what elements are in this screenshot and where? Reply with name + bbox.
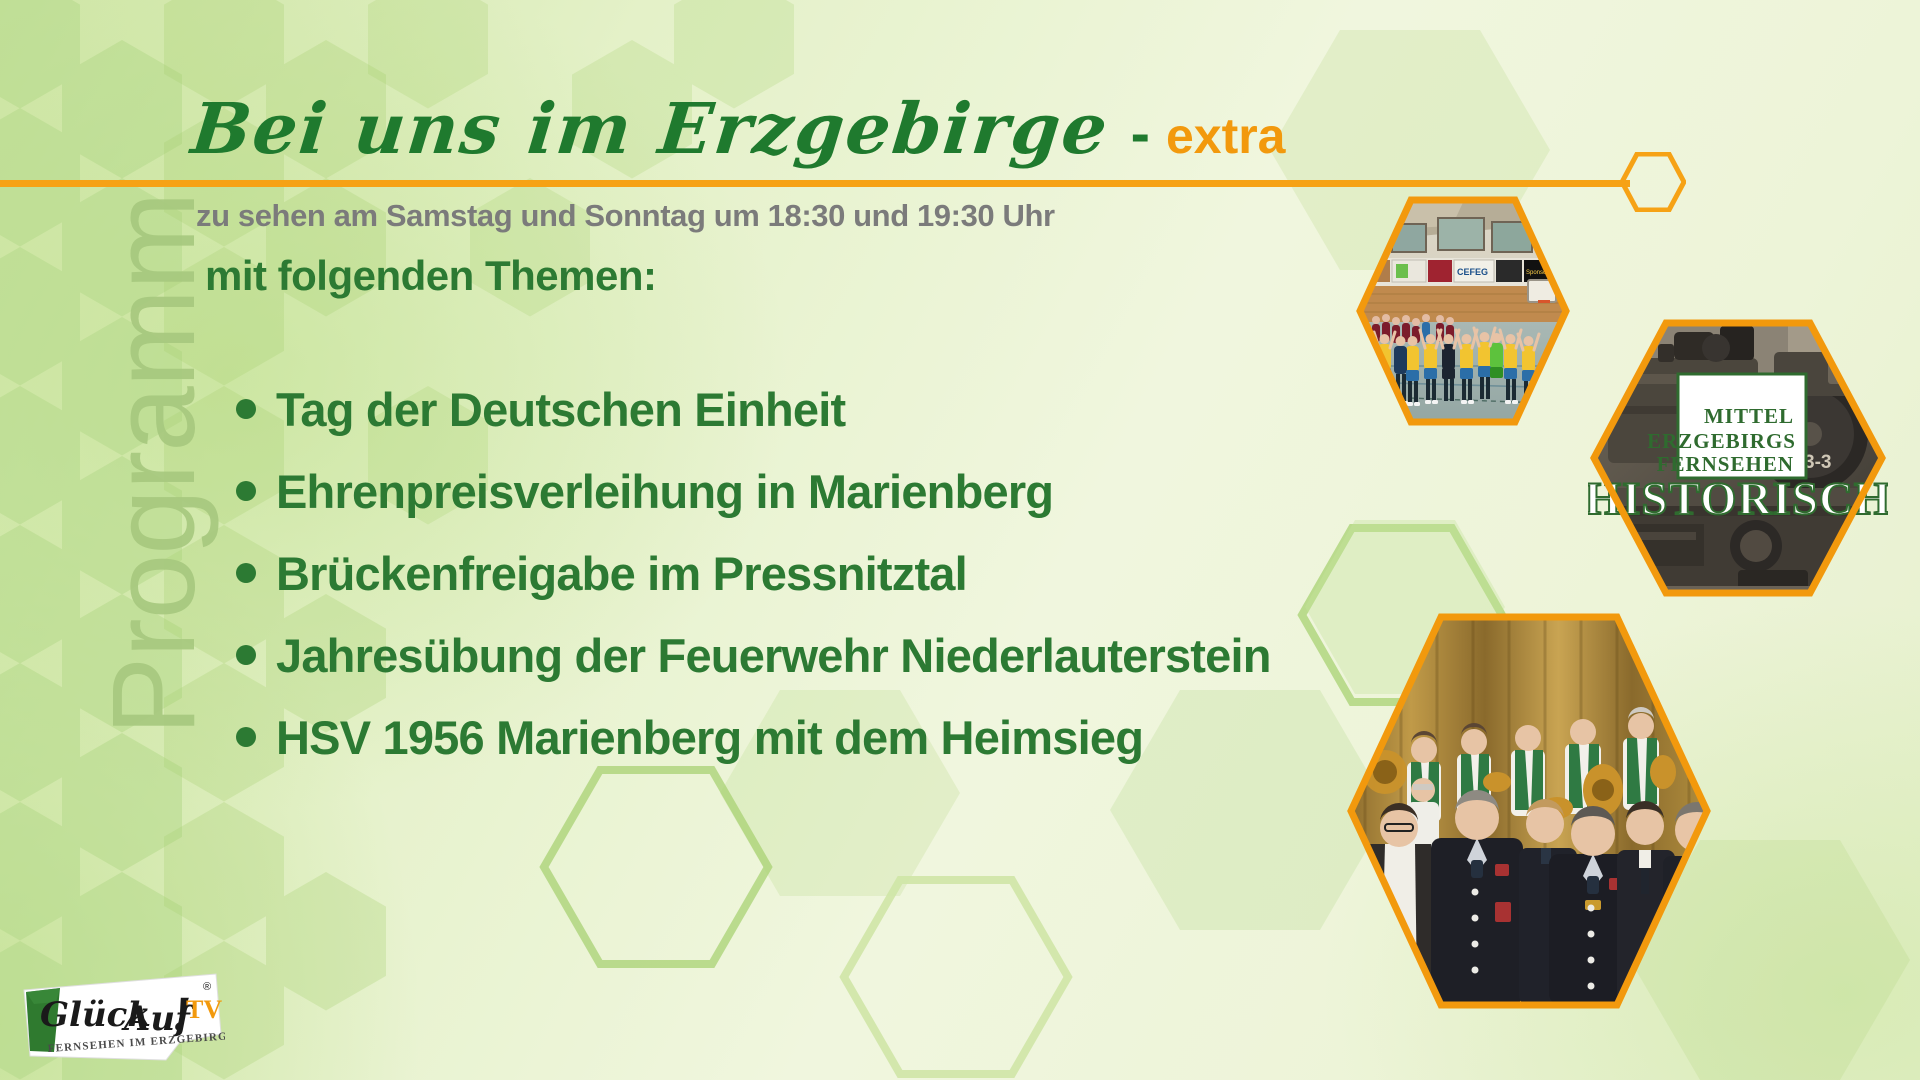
svg-text:CEFEG: CEFEG xyxy=(1457,267,1488,277)
topic-label: HSV 1956 Marienberg mit dem Heimsieg xyxy=(276,714,1143,761)
volleyball-team-photo: CEFEG Sponsor xyxy=(1356,196,1570,426)
orange-divider-rule xyxy=(0,180,1630,187)
bullet-dot-icon xyxy=(236,645,256,665)
loco-number: 3-3 xyxy=(1804,452,1831,473)
list-item: HSV 1956 Marienberg mit dem Heimsieg xyxy=(236,696,1271,778)
logo-registered-mark: ® xyxy=(203,981,211,993)
bullet-dot-icon xyxy=(236,727,256,747)
feuerwehr-ehrung-photo xyxy=(1345,612,1713,1010)
programm-vertical-label: Programm xyxy=(94,54,214,874)
list-item: Tag der Deutschen Einheit xyxy=(236,368,1271,450)
list-item: Ehrenpreisverleihung in Marienberg xyxy=(236,450,1271,532)
svg-text:MITTEL: MITTEL xyxy=(1704,404,1794,428)
list-item: Brückenfreigabe im Pressnitztal xyxy=(236,532,1271,614)
topic-label: Brückenfreigabe im Pressnitztal xyxy=(276,550,967,597)
list-item: Jahresübung der Feuerwehr Niederlauterst… xyxy=(236,614,1271,696)
headline-dash: - xyxy=(1131,105,1150,163)
glueckauf-tv-logo[interactable]: Glück Auf ! ® TV FERNSEHEN IM ERZGEBIRGE xyxy=(20,968,225,1064)
svg-text:ERZGEBIRGS: ERZGEBIRGS xyxy=(1647,429,1796,453)
topics-list: Tag der Deutschen Einheit Ehrenpreisverl… xyxy=(236,368,1271,778)
logo-tv-text: TV xyxy=(186,995,222,1024)
bullet-dot-icon xyxy=(236,563,256,583)
historisch-steam-train-photo: 3-3 MITTEL ERZGEBIR xyxy=(1588,318,1888,598)
orange-hexagon-outline-icon xyxy=(1620,152,1686,212)
headline-extra-text: extra xyxy=(1166,111,1286,161)
topic-label: Jahresübung der Feuerwehr Niederlauterst… xyxy=(276,632,1271,679)
topic-label: Tag der Deutschen Einheit xyxy=(276,386,845,433)
slide-background: Programm Bei uns im Erzgebirge - extra z… xyxy=(0,0,1920,1080)
historisch-banner-text: HISTORISCH xyxy=(1588,473,1888,525)
headline: Bei uns im Erzgebirge - extra xyxy=(192,94,1285,164)
topics-intro-label: mit folgenden Themen: xyxy=(205,252,657,300)
bullet-dot-icon xyxy=(236,399,256,419)
topic-label: Ehrenpreisverleihung in Marienberg xyxy=(276,468,1053,515)
headline-script-text: Bei uns im Erzgebirge xyxy=(188,94,1112,164)
broadcast-times-subtitle: zu sehen am Samstag und Sonntag um 18:30… xyxy=(196,198,1055,234)
bullet-dot-icon xyxy=(236,481,256,501)
